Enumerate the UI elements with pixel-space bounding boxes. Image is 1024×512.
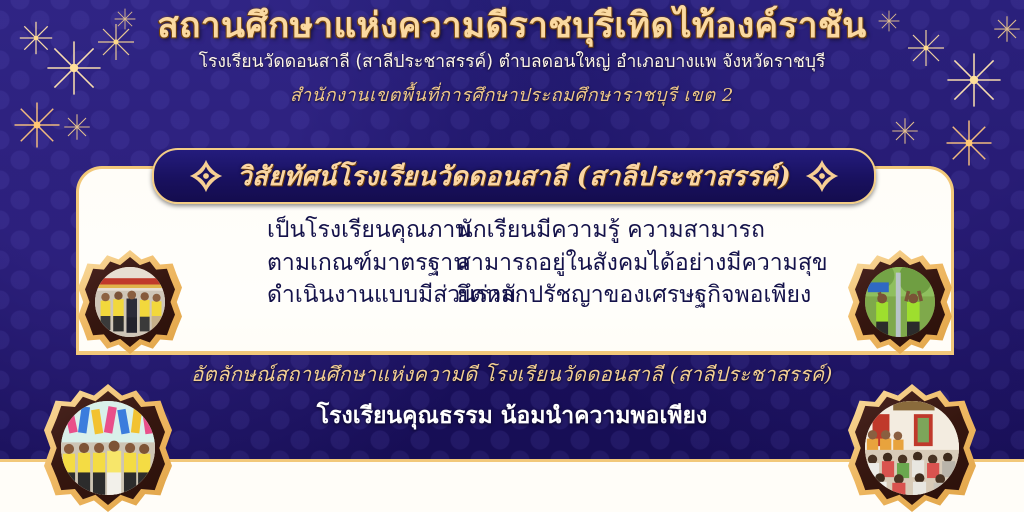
photo-teachers-yellow-group	[78, 250, 182, 354]
education-office-line: สำนักงานเขตพื้นที่การศึกษาประถมศึกษาราชบ…	[0, 80, 1024, 109]
vision-line-left: ตามเกณฑ์มาตรฐาน	[167, 247, 457, 280]
sparkle-star-icon	[62, 112, 92, 142]
school-subtitle: โรงเรียนวัดดอนสาลี (สาลีประชาสรรค์) ตำบล…	[0, 52, 1024, 74]
vision-line-right: ยึดหลักปรัชญาของเศรษฐกิจพอเพียง	[457, 279, 857, 312]
sparkle-star-icon	[890, 116, 920, 146]
photo-students-outdoor-activity	[848, 250, 952, 354]
poster-canvas: สถานศึกษาแห่งความดีราชบุรีเทิดไท้องค์ราช…	[0, 0, 1024, 512]
vision-line-left: เป็นโรงเรียนคุณภาพ	[167, 214, 457, 247]
vision-statement: เป็นโรงเรียนคุณภาพ นักเรียนมีความรู้ ควา…	[76, 214, 948, 312]
photo-image	[61, 401, 155, 495]
vision-line-left: ดำเนินงานแบบมีส่วนร่วม	[167, 279, 457, 312]
vision-line-right: สามารถอยู่ในสังคมได้อย่างมีความสุข	[457, 247, 857, 280]
vision-line: เป็นโรงเรียนคุณภาพ นักเรียนมีความรู้ ควา…	[76, 214, 948, 247]
vision-banner-label: วิสัยทัศน์โรงเรียนวัดดอนสาลี (สาลีประชาส…	[237, 156, 791, 197]
vision-line-right: นักเรียนมีความรู้ ความสามารถ	[457, 214, 857, 247]
photo-image	[865, 401, 959, 495]
photo-image	[95, 267, 165, 337]
photo-temple-assembly	[848, 384, 976, 512]
vision-banner: วิสัยทัศน์โรงเรียนวัดดอนสาลี (สาลีประชาส…	[152, 148, 876, 204]
vision-line: ตามเกณฑ์มาตรฐาน สามารถอยู่ในสังคมได้อย่า…	[76, 247, 948, 280]
photo-image	[865, 267, 935, 337]
diamond-ornament-icon	[189, 159, 223, 193]
vision-line: ดำเนินงานแบบมีส่วนร่วม ยึดหลักปรัชญาของเ…	[76, 279, 948, 312]
diamond-ornament-icon	[805, 159, 839, 193]
page-title: สถานศึกษาแห่งความดีราชบุรีเทิดไท้องค์ราช…	[0, 6, 1024, 47]
header-block: สถานศึกษาแห่งความดีราชบุรีเทิดไท้องค์ราช…	[0, 6, 1024, 109]
sparkle-star-icon	[944, 118, 994, 168]
photo-staff-stage-backdrop	[44, 384, 172, 512]
